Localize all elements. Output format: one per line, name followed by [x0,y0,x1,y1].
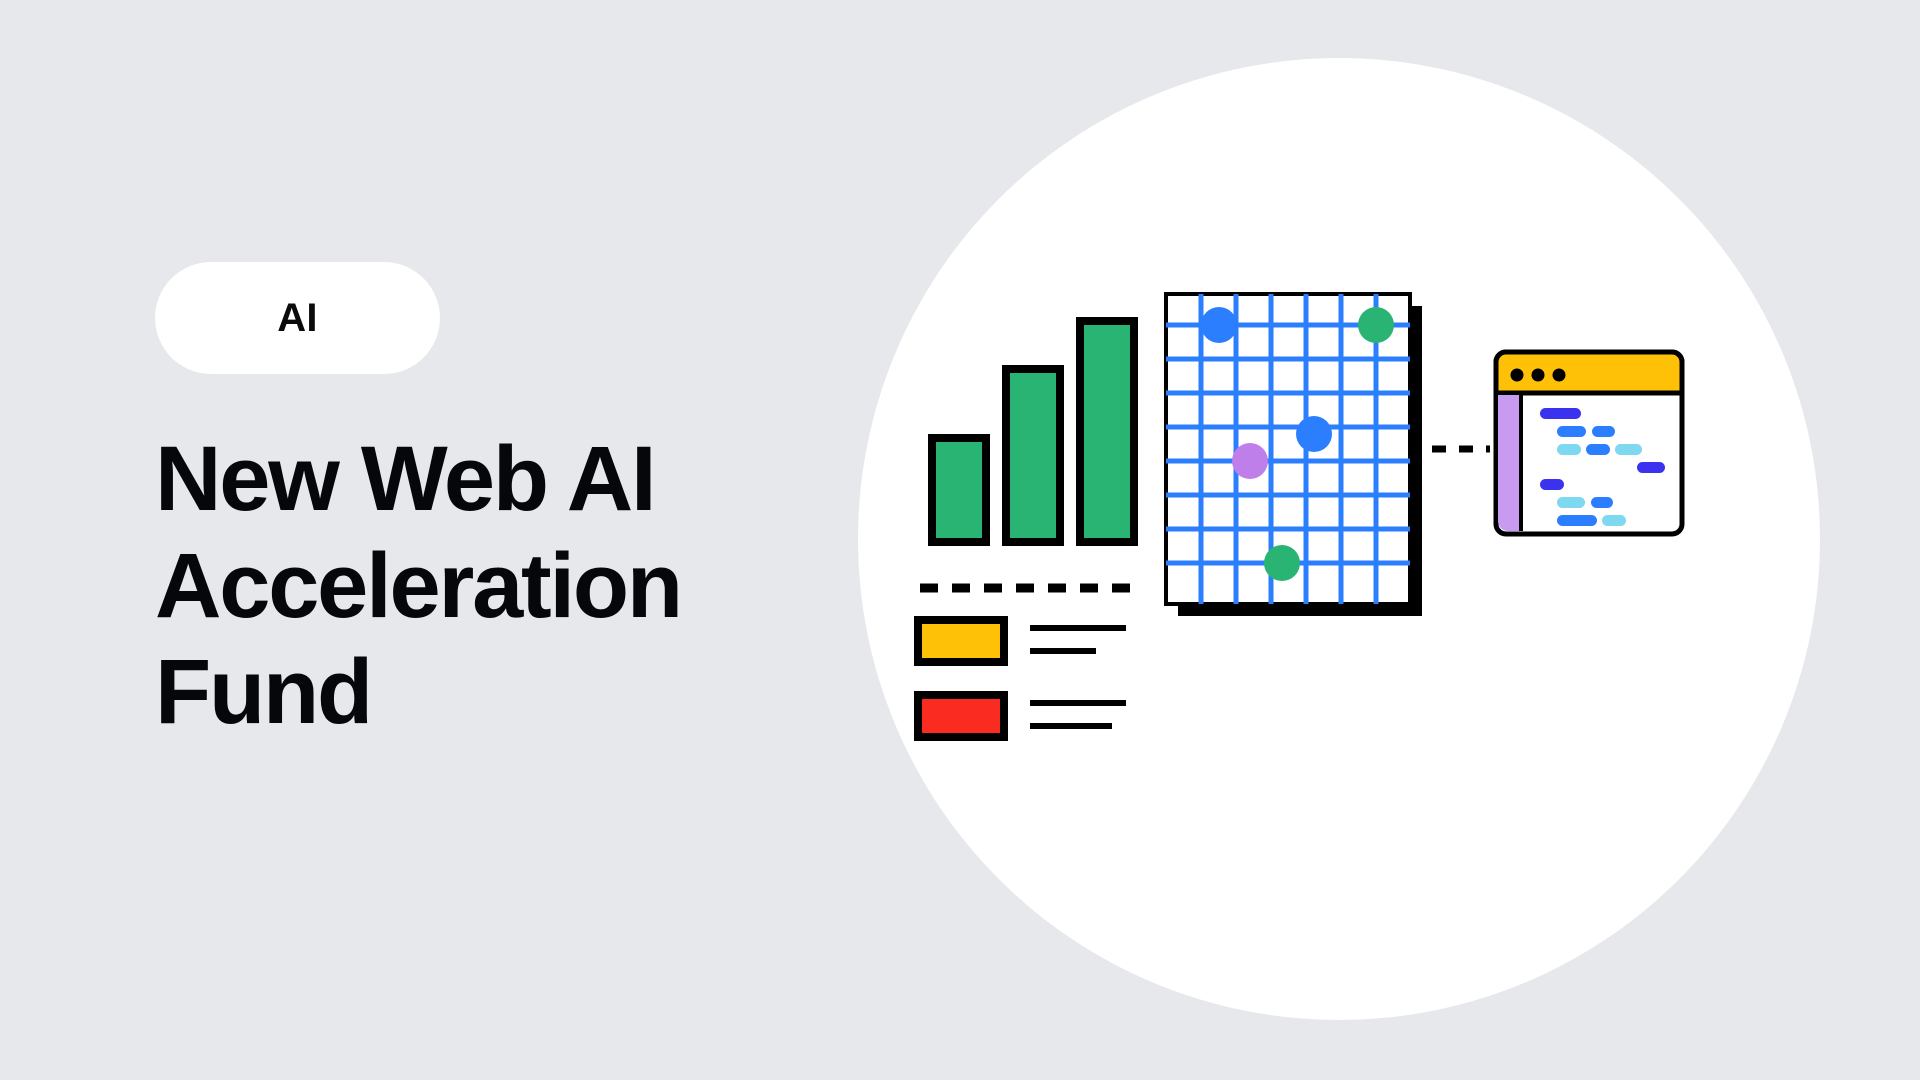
code-pill [1591,497,1613,508]
scatter-point-p1 [1201,307,1237,343]
bar-2 [1006,369,1060,542]
bar-chart [932,321,1134,542]
scatter-grid-panel [1166,294,1422,616]
code-pill [1592,426,1615,437]
page-title-line-3: Fund [155,639,815,746]
code-pill [1540,408,1581,419]
code-pill [1615,444,1642,455]
legend-swatch-red [918,695,1004,737]
scatter-point-p5 [1264,545,1300,581]
legend-item-red [918,695,1126,737]
bar-1 [932,438,986,542]
page-title: New Web AI Acceleration Fund [155,426,815,746]
code-pill [1557,497,1585,508]
legend-swatch-yellow [918,620,1004,662]
code-pill [1637,462,1665,473]
code-pill [1586,444,1610,455]
code-window-dot-2[interactable] [1532,369,1545,382]
category-badge-label: AI [277,298,317,338]
bar-3 [1080,321,1134,542]
code-pill [1557,444,1581,455]
code-window-sidebar [1498,395,1521,531]
scatter-point-p3 [1296,416,1332,452]
code-pill [1540,479,1564,490]
legend-item-yellow [918,620,1126,662]
code-window-titlebar [1496,352,1682,393]
scatter-point-p4 [1232,443,1268,479]
code-pill [1602,515,1626,526]
page-root: AI New Web AI Acceleration Fund [0,0,1920,1080]
code-pill [1557,515,1597,526]
code-window-dot-3[interactable] [1553,369,1566,382]
hero-text-column: AI New Web AI Acceleration Fund [155,262,855,808]
code-pill [1557,426,1586,437]
code-window [1496,352,1682,534]
page-title-line-1: New Web AI [155,426,815,533]
category-badge[interactable]: AI [155,262,440,374]
page-title-line-2: Acceleration [155,533,815,640]
scatter-point-p2 [1358,307,1394,343]
illustration-artwork [858,58,1820,1020]
code-window-dot-1[interactable] [1511,369,1524,382]
ai-analytics-illustration [858,58,1820,1020]
